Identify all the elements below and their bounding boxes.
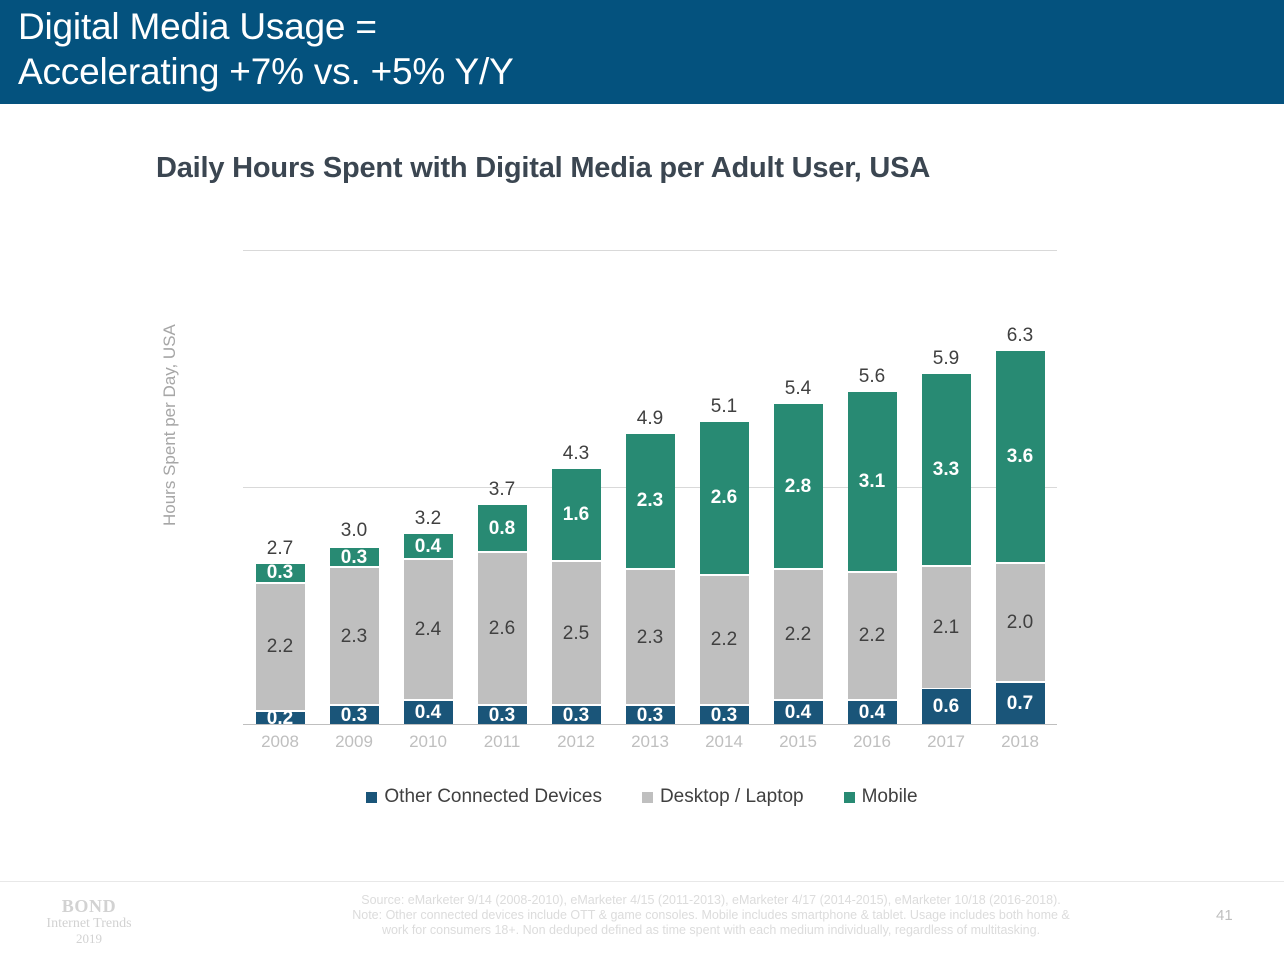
bar-segment-label: 0.6 [933,697,959,716]
legend-label: Other Connected Devices [384,786,602,808]
bar-segment-label: 2.3 [637,491,663,510]
bar-segment-label: 0.3 [341,548,367,567]
bar-segment-label: 2.2 [267,637,293,656]
bar-total-label: 3.2 [404,508,453,530]
legend-swatch-icon [366,792,377,803]
bar-segment-other[interactable]: 0.3 [478,706,527,724]
bar-total-label: 6.3 [996,325,1045,347]
chart-area: Hours Spent per Day, USA 04820082.70.32.… [0,196,1284,826]
footer-divider [0,881,1284,882]
bar-total-label: 4.3 [552,443,601,465]
page-number: 41 [1216,907,1233,924]
bar-segment-label: 0.3 [489,706,515,725]
bar-segment-mobile[interactable]: 0.8 [478,505,527,551]
bar-segment-mobile[interactable]: 0.3 [330,548,379,566]
bar-segment-label: 3.1 [859,472,885,491]
bar-segment-mobile[interactable]: 2.8 [774,404,823,568]
bar-total-label: 5.1 [700,396,749,418]
slide: Digital Media Usage = Accelerating +7% v… [0,0,1284,957]
bar-segment-label: 1.6 [563,505,589,524]
bar-segment-other[interactable]: 0.3 [700,706,749,724]
bar-segment-desktop[interactable]: 2.2 [774,570,823,699]
bond-logo: BOND Internet Trends 2019 [24,896,154,946]
bar-total-label: 5.6 [848,366,897,388]
bar-segment-other[interactable]: 0.4 [404,701,453,724]
chart-title: Daily Hours Spent with Digital Media per… [156,152,930,185]
bar-segment-label: 2.2 [711,630,737,649]
bar-total-label: 2.7 [256,538,305,560]
bar-segment-label: 3.3 [933,460,959,479]
bar-total-label: 5.9 [922,348,971,370]
legend-item[interactable]: Other Connected Devices [366,786,602,808]
bar-segment-desktop[interactable]: 2.2 [700,576,749,705]
legend-item[interactable]: Mobile [844,786,918,808]
bar-segment-label: 0.2 [267,709,293,728]
x-axis-tick-label: 2014 [700,732,749,752]
bar-segment-label: 0.3 [341,706,367,725]
bar-group[interactable]: 3.70.82.60.3 [478,505,527,724]
legend-label: Mobile [862,786,918,808]
bar-segment-mobile[interactable]: 0.4 [404,534,453,557]
slide-header: Digital Media Usage = Accelerating +7% v… [0,0,1284,104]
x-axis-tick-label: 2013 [626,732,675,752]
bar-segment-label: 2.3 [341,627,367,646]
bar-segment-desktop[interactable]: 2.3 [330,568,379,704]
bar-group[interactable]: 6.33.62.00.7 [996,351,1045,724]
bar-group[interactable]: 3.00.32.30.3 [330,546,379,724]
bar-group[interactable]: 3.20.42.40.4 [404,534,453,724]
bar-segment-desktop[interactable]: 2.0 [996,564,1045,681]
bar-segment-desktop[interactable]: 2.4 [404,560,453,699]
x-axis-tick-label: 2018 [996,732,1045,752]
bar-segment-label: 2.8 [785,477,811,496]
bar-segment-desktop[interactable]: 2.2 [848,573,897,700]
bar-segment-label: 0.7 [1007,694,1033,713]
bar-segment-other[interactable]: 0.3 [626,706,675,724]
bar-segment-label: 0.4 [859,703,885,722]
bar-segment-label: 0.3 [637,706,663,725]
bar-segment-label: 2.1 [933,618,959,637]
bar-segment-label: 2.2 [859,626,885,645]
bar-group[interactable]: 2.70.32.20.2 [256,564,305,724]
bar-segment-other[interactable]: 0.4 [774,701,823,724]
bar-group[interactable]: 5.12.62.20.3 [700,422,749,724]
bar-segment-mobile[interactable]: 0.3 [256,564,305,582]
bar-segment-label: 3.6 [1007,447,1033,466]
bar-segment-label: 0.3 [267,563,293,582]
source-note: Source: eMarketer 9/14 (2008-2010), eMar… [335,893,1087,938]
bar-segment-label: 0.8 [489,519,515,538]
bar-group[interactable]: 5.93.32.10.6 [922,374,971,724]
bar-total-label: 3.7 [478,479,527,501]
x-axis-tick-label: 2012 [552,732,601,752]
bar-segment-mobile[interactable]: 3.6 [996,351,1045,562]
legend-label: Desktop / Laptop [660,786,804,808]
bar-segment-other[interactable]: 0.3 [552,706,601,724]
bar-segment-other[interactable]: 0.7 [996,683,1045,724]
bar-segment-label: 0.3 [563,706,589,725]
bar-segment-label: 2.5 [563,624,589,643]
bar-segment-label: 2.2 [785,625,811,644]
bar-segment-other[interactable]: 0.2 [256,712,305,724]
bar-segment-mobile[interactable]: 3.3 [922,374,971,564]
bar-segment-desktop[interactable]: 2.6 [478,553,527,704]
bar-segment-label: 2.3 [637,628,663,647]
x-axis-tick-label: 2010 [404,732,453,752]
bar-segment-desktop[interactable]: 2.2 [256,584,305,710]
bar-segment-label: 0.3 [711,706,737,725]
bar-segment-mobile[interactable]: 1.6 [552,469,601,560]
bar-group[interactable]: 4.31.62.50.3 [552,469,601,724]
bar-segment-desktop[interactable]: 2.1 [922,567,971,688]
bond-logo-subtitle: Internet Trends [24,916,154,932]
slide-header-title: Digital Media Usage = Accelerating +7% v… [18,4,1284,94]
bar-segment-desktop[interactable]: 2.5 [552,562,601,704]
bar-segment-mobile[interactable]: 2.3 [626,434,675,568]
bar-segment-label: 0.4 [785,703,811,722]
bar-segment-other[interactable]: 0.6 [922,689,971,724]
gridline [243,250,1057,251]
bar-segment-label: 0.4 [415,703,441,722]
bar-segment-mobile[interactable]: 3.1 [848,392,897,570]
legend-swatch-icon [844,792,855,803]
bond-logo-year: 2019 [24,932,154,947]
x-axis-tick-label: 2015 [774,732,823,752]
x-axis-tick-label: 2017 [922,732,971,752]
bond-logo-name: BOND [24,896,154,916]
bar-segment-label: 2.0 [1007,613,1033,632]
bar-total-label: 4.9 [626,408,675,430]
bar-total-label: 3.0 [330,520,379,542]
bar-group[interactable]: 5.42.82.20.4 [774,404,823,724]
bar-segment-mobile[interactable]: 2.6 [700,422,749,574]
bar-segment-other[interactable]: 0.4 [848,701,897,724]
plot-area: 04820082.70.32.20.220093.00.32.30.320103… [243,250,1057,724]
bar-group[interactable]: 5.63.12.20.4 [848,392,897,724]
bar-segment-other[interactable]: 0.3 [330,706,379,724]
bar-total-label: 5.4 [774,378,823,400]
bar-segment-label: 2.4 [415,620,441,639]
x-axis-tick-label: 2011 [478,732,527,752]
bar-segment-label: 2.6 [489,619,515,638]
x-axis-tick-label: 2016 [848,732,897,752]
y-axis-title: Hours Spent per Day, USA [160,324,180,526]
legend-item[interactable]: Desktop / Laptop [642,786,804,808]
chart-legend: Other Connected DevicesDesktop / LaptopM… [0,786,1284,808]
bar-segment-desktop[interactable]: 2.3 [626,570,675,704]
bar-group[interactable]: 4.92.32.30.3 [626,434,675,724]
x-axis-tick-label: 2009 [330,732,379,752]
bar-segment-label: 2.6 [711,488,737,507]
x-axis-tick-label: 2008 [256,732,305,752]
bar-segment-label: 0.4 [415,537,441,556]
legend-swatch-icon [642,792,653,803]
